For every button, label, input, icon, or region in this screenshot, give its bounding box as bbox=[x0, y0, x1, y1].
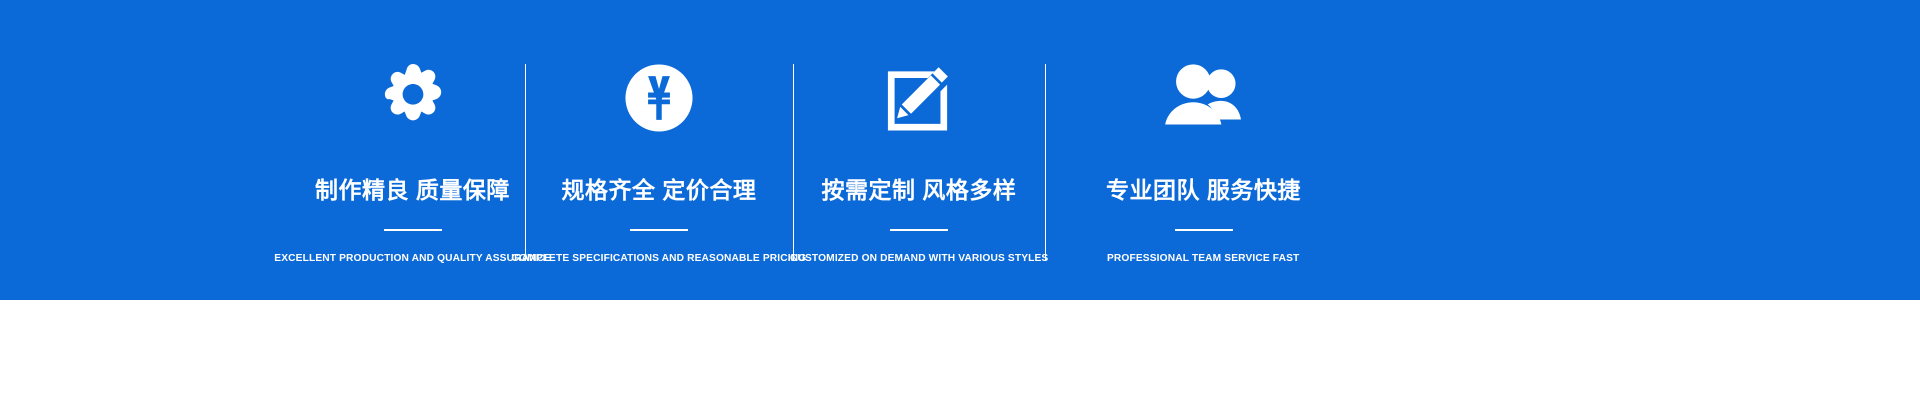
gear-icon bbox=[376, 55, 450, 141]
feature-item-team[interactable]: 专业团队 服务快捷 PROFESSIONAL TEAM SERVICE FAST bbox=[1045, 0, 1362, 300]
feature-subtitle: COMPLETE SPECIFICATIONS AND REASONABLE P… bbox=[512, 253, 807, 264]
feature-item-quality[interactable]: 制作精良 质量保障 EXCELLENT PRODUCTION AND QUALI… bbox=[300, 0, 525, 300]
feature-title: 按需定制 风格多样 bbox=[822, 179, 1017, 202]
feature-title: 规格齐全 定价合理 bbox=[562, 179, 757, 202]
feature-divider-rule bbox=[630, 229, 688, 231]
edit-pencil-square-icon bbox=[882, 55, 956, 141]
page-bottom-whitespace bbox=[0, 300, 1920, 401]
feature-divider-rule bbox=[890, 229, 948, 231]
feature-divider-rule bbox=[1175, 229, 1233, 231]
feature-title: 制作精良 质量保障 bbox=[315, 179, 510, 202]
feature-list: 制作精良 质量保障 EXCELLENT PRODUCTION AND QUALI… bbox=[300, 0, 1362, 300]
feature-divider-rule bbox=[384, 229, 442, 231]
users-team-icon bbox=[1161, 55, 1247, 141]
feature-subtitle: EXCELLENT PRODUCTION AND QUALITY ASSURAN… bbox=[274, 253, 551, 264]
feature-banner: 制作精良 质量保障 EXCELLENT PRODUCTION AND QUALI… bbox=[0, 0, 1920, 300]
feature-subtitle: CUSTOMIZED ON DEMAND WITH VARIOUS STYLES bbox=[790, 253, 1048, 264]
feature-item-pricing[interactable]: 规格齐全 定价合理 COMPLETE SPECIFICATIONS AND RE… bbox=[525, 0, 793, 300]
yen-currency-circle-icon bbox=[620, 55, 698, 141]
feature-title: 专业团队 服务快捷 bbox=[1106, 179, 1301, 202]
feature-item-customization[interactable]: 按需定制 风格多样 CUSTOMIZED ON DEMAND WITH VARI… bbox=[793, 0, 1045, 300]
feature-subtitle: PROFESSIONAL TEAM SERVICE FAST bbox=[1107, 253, 1299, 264]
